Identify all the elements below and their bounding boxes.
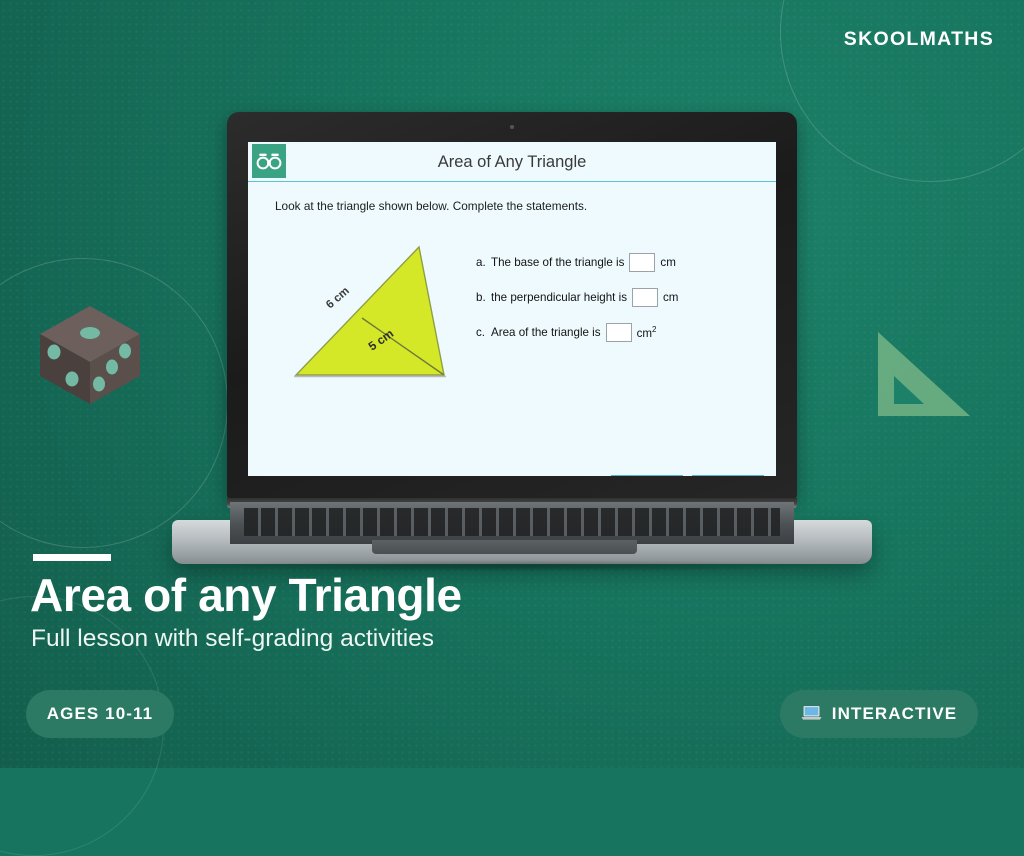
lesson-actions: Clear Submit bbox=[611, 475, 764, 476]
statement-a-text: The base of the triangle is bbox=[491, 256, 624, 269]
laptop-keyboard-deck bbox=[230, 502, 794, 544]
page-title: Area of any Triangle bbox=[30, 568, 462, 622]
interactive-badge: INTERACTIVE bbox=[780, 690, 978, 738]
statement-c-unit-base: cm bbox=[637, 327, 652, 340]
statement-a-letter: a. bbox=[476, 256, 491, 269]
lesson-title: Area of Any Triangle bbox=[248, 142, 776, 182]
decorative-dot-column bbox=[6, 268, 10, 738]
answer-input-b[interactable] bbox=[632, 288, 658, 307]
set-square-icon bbox=[872, 328, 976, 420]
laptop-lid: Area of Any Triangle Look at the triangl… bbox=[227, 112, 797, 500]
laptop-icon bbox=[801, 705, 822, 724]
title-rule bbox=[33, 554, 111, 561]
statement-c-unit-exponent: 2 bbox=[652, 325, 656, 334]
laptop-trackpad bbox=[372, 540, 637, 554]
lesson-header: Area of Any Triangle bbox=[248, 142, 776, 182]
statement-c-letter: c. bbox=[476, 326, 491, 339]
statement-a-unit: cm bbox=[660, 256, 675, 269]
answer-input-c[interactable] bbox=[606, 323, 632, 342]
page-subtitle: Full lesson with self-grading activities bbox=[31, 625, 434, 653]
statement-b-letter: b. bbox=[476, 291, 491, 304]
statement-c: c. Area of the triangle is cm2 bbox=[476, 323, 756, 342]
ages-badge: AGES 10-11 bbox=[26, 690, 174, 738]
laptop-mockup: Area of Any Triangle Look at the triangl… bbox=[172, 112, 872, 552]
binoculars-logo-icon bbox=[252, 144, 286, 178]
lesson-body: 6 cm 5 cm a. The base of the triangle is… bbox=[248, 213, 776, 476]
triangle-figure: 6 cm 5 cm bbox=[284, 235, 474, 395]
lesson-screen: Area of Any Triangle Look at the triangl… bbox=[248, 142, 776, 476]
lesson-instruction: Look at the triangle shown below. Comple… bbox=[275, 199, 776, 213]
answer-input-a[interactable] bbox=[629, 253, 655, 272]
dice-icon bbox=[36, 300, 144, 410]
laptop-keys bbox=[244, 508, 780, 536]
brand-name: SKOOLMATHS bbox=[844, 28, 994, 51]
webcam-icon bbox=[510, 125, 514, 129]
interactive-badge-label: INTERACTIVE bbox=[832, 704, 957, 724]
statement-c-text: Area of the triangle is bbox=[491, 326, 601, 339]
statement-b: b. the perpendicular height is cm bbox=[476, 288, 756, 307]
submit-button[interactable]: Submit bbox=[692, 475, 764, 476]
statement-b-unit: cm bbox=[663, 291, 678, 304]
statement-c-unit: cm2 bbox=[637, 325, 657, 340]
statement-b-text: the perpendicular height is bbox=[491, 291, 627, 304]
statement-a: a. The base of the triangle is cm bbox=[476, 253, 756, 272]
triangle-label-slant: 6 cm bbox=[324, 285, 352, 311]
clear-button[interactable]: Clear bbox=[611, 475, 683, 476]
statements-list: a. The base of the triangle is cm b. the… bbox=[476, 253, 756, 358]
